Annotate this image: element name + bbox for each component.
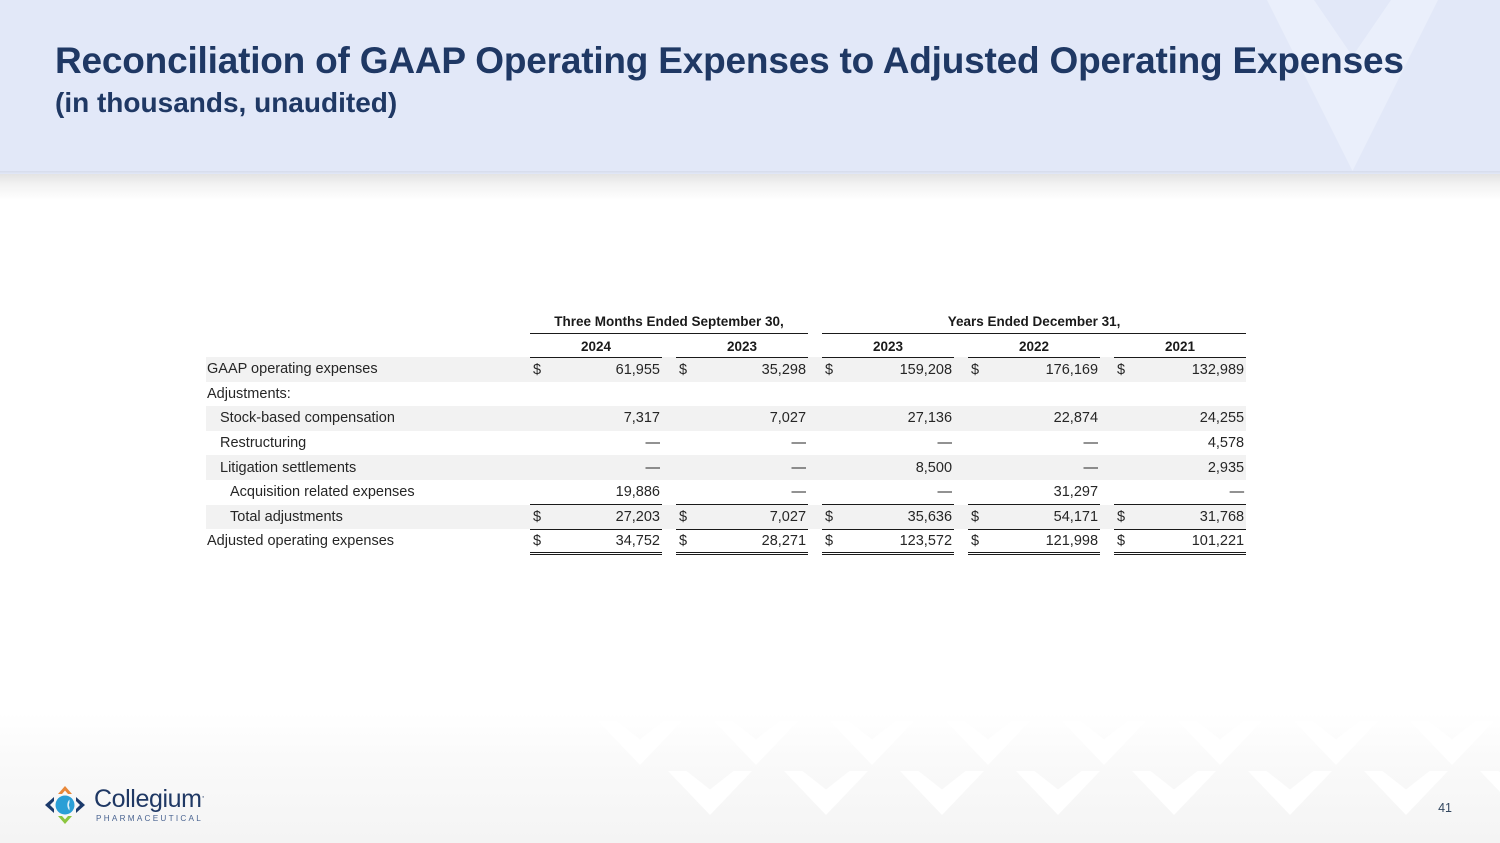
cell-gap xyxy=(1100,357,1114,382)
cell-currency-symbol xyxy=(968,480,994,505)
cell-value: — xyxy=(1140,480,1246,505)
cell-currency-symbol: $ xyxy=(1114,505,1140,530)
cell-gap xyxy=(1100,505,1114,530)
cell-gap xyxy=(808,455,822,480)
cell-currency-symbol: $ xyxy=(530,505,556,530)
cell-currency-symbol: $ xyxy=(822,505,848,530)
cell-currency-symbol xyxy=(530,431,556,456)
logo-text-block: Collegium. PHARMACEUTICAL xyxy=(94,787,204,823)
cell-gap xyxy=(954,382,968,407)
page-number: 41 xyxy=(1438,801,1452,815)
cell-gap xyxy=(1100,529,1114,554)
cell-value: 123,572 xyxy=(848,529,954,554)
table-row: Stock-based compensation7,3177,02727,136… xyxy=(206,406,1246,431)
cell-currency-symbol xyxy=(968,455,994,480)
year-header-gap xyxy=(662,333,676,357)
group-header-three-months: Three Months Ended September 30, xyxy=(530,311,808,333)
chevron-shape-icon xyxy=(590,721,706,773)
cell-currency-symbol: $ xyxy=(822,529,848,554)
cell-value: 34,752 xyxy=(556,529,662,554)
cell-currency-symbol: $ xyxy=(676,357,702,382)
cell-gap xyxy=(1100,480,1114,505)
cell-currency-symbol: $ xyxy=(968,529,994,554)
cell-value: 22,874 xyxy=(994,406,1100,431)
cell-value xyxy=(994,382,1100,407)
cell-gap xyxy=(954,505,968,530)
cell-value: 31,768 xyxy=(1140,505,1246,530)
company-logo: Collegium. PHARMACEUTICAL xyxy=(44,785,204,825)
cell-gap xyxy=(662,480,676,505)
row-label: GAAP operating expenses xyxy=(206,357,530,382)
chevron-shape-icon xyxy=(1286,721,1402,773)
year-header-row: 2024 2023 2023 2022 2021 xyxy=(206,333,1246,357)
logo-registered-mark: . xyxy=(202,789,205,801)
cell-currency-symbol: $ xyxy=(1114,357,1140,382)
table-row: Litigation settlements——8,500—2,935 xyxy=(206,455,1246,480)
cell-currency-symbol xyxy=(1114,431,1140,456)
cell-currency-symbol xyxy=(1114,406,1140,431)
cell-value: — xyxy=(702,480,808,505)
column-header-2024-q3: 2024 xyxy=(530,333,662,357)
chevron-shape-icon xyxy=(1008,771,1124,823)
year-header-gap xyxy=(1100,333,1114,357)
cell-gap xyxy=(808,505,822,530)
cell-gap xyxy=(662,382,676,407)
row-label: Acquisition related expenses xyxy=(206,480,530,505)
row-label: Total adjustments xyxy=(206,505,530,530)
cell-currency-symbol: $ xyxy=(1114,529,1140,554)
cell-currency-symbol xyxy=(530,480,556,505)
cell-value: 61,955 xyxy=(556,357,662,382)
cell-currency-symbol xyxy=(822,455,848,480)
cell-currency-symbol xyxy=(968,406,994,431)
cell-value: 27,203 xyxy=(556,505,662,530)
cell-gap xyxy=(662,505,676,530)
cell-value: 121,998 xyxy=(994,529,1100,554)
cell-value: — xyxy=(848,431,954,456)
title-block: Reconciliation of GAAP Operating Expense… xyxy=(55,40,1404,121)
cell-value xyxy=(1140,382,1246,407)
table-row: Acquisition related expenses19,886——31,2… xyxy=(206,480,1246,505)
page-subtitle: (in thousands, unaudited) xyxy=(55,85,1404,121)
cell-gap xyxy=(662,406,676,431)
cell-value: 27,136 xyxy=(848,406,954,431)
chevron-shape-icon xyxy=(822,721,938,773)
chevron-shape-icon xyxy=(1402,721,1500,773)
cell-value: 159,208 xyxy=(848,357,954,382)
row-label: Adjustments: xyxy=(206,382,530,407)
cell-currency-symbol: $ xyxy=(822,357,848,382)
cell-gap xyxy=(1100,382,1114,407)
row-label: Litigation settlements xyxy=(206,455,530,480)
cell-value: 7,027 xyxy=(702,505,808,530)
cell-currency-symbol xyxy=(822,382,848,407)
cell-gap xyxy=(808,357,822,382)
cell-value: 31,297 xyxy=(994,480,1100,505)
year-header-spacer xyxy=(206,333,530,357)
cell-currency-symbol xyxy=(530,382,556,407)
cell-currency-symbol xyxy=(1114,382,1140,407)
cell-value: — xyxy=(556,431,662,456)
cell-gap xyxy=(662,529,676,554)
cell-value: — xyxy=(994,431,1100,456)
cell-currency-symbol xyxy=(822,431,848,456)
cell-value: 176,169 xyxy=(994,357,1100,382)
cell-value: — xyxy=(848,480,954,505)
row-label: Stock-based compensation xyxy=(206,406,530,431)
logo-wordmark: Collegium. xyxy=(94,787,204,812)
chevron-shape-icon xyxy=(776,771,892,823)
table-row: Restructuring————4,578 xyxy=(206,431,1246,456)
cell-gap xyxy=(662,431,676,456)
header-band-shadow xyxy=(0,174,1500,200)
cell-value: — xyxy=(556,455,662,480)
chevron-shape-icon xyxy=(706,721,822,773)
cell-currency-symbol: $ xyxy=(530,529,556,554)
cell-gap xyxy=(1100,406,1114,431)
row-label: Adjusted operating expenses xyxy=(206,529,530,554)
cell-value: 24,255 xyxy=(1140,406,1246,431)
cell-gap xyxy=(808,406,822,431)
cell-currency-symbol xyxy=(968,431,994,456)
cell-gap xyxy=(808,529,822,554)
table-row: Adjustments: xyxy=(206,382,1246,407)
cell-currency-symbol: $ xyxy=(676,529,702,554)
cell-currency-symbol xyxy=(530,406,556,431)
cell-value xyxy=(702,382,808,407)
cell-gap xyxy=(662,357,676,382)
logo-tagline: PHARMACEUTICAL xyxy=(96,815,204,823)
chevron-shape-icon xyxy=(1170,721,1286,773)
reconciliation-table: Three Months Ended September 30, Years E… xyxy=(206,311,1246,555)
cell-value: 101,221 xyxy=(1140,529,1246,554)
cell-gap xyxy=(808,431,822,456)
financial-table-container: Three Months Ended September 30, Years E… xyxy=(206,311,1246,555)
table-head: Three Months Ended September 30, Years E… xyxy=(206,311,1246,357)
chevron-shape-icon xyxy=(660,771,776,823)
year-header-gap xyxy=(808,333,822,357)
collegium-logo-mark-icon xyxy=(44,785,86,825)
year-header-gap xyxy=(954,333,968,357)
chevron-watermark-pattern xyxy=(0,713,1500,843)
chevron-shape-icon xyxy=(1240,771,1356,823)
cell-currency-symbol xyxy=(1114,480,1140,505)
cell-value: 28,271 xyxy=(702,529,808,554)
column-header-2021-fy: 2021 xyxy=(1114,333,1246,357)
group-header-row: Three Months Ended September 30, Years E… xyxy=(206,311,1246,333)
chevron-shape-icon xyxy=(892,771,1008,823)
cell-gap xyxy=(954,480,968,505)
cell-value xyxy=(556,382,662,407)
page-title: Reconciliation of GAAP Operating Expense… xyxy=(55,40,1404,83)
cell-value: 132,989 xyxy=(1140,357,1246,382)
chevron-shape-icon xyxy=(1124,771,1240,823)
cell-value: 54,171 xyxy=(994,505,1100,530)
group-header-years: Years Ended December 31, xyxy=(822,311,1246,333)
chevron-shape-icon xyxy=(1054,721,1170,773)
cell-value: — xyxy=(702,431,808,456)
cell-value: 7,027 xyxy=(702,406,808,431)
chevron-shape-icon xyxy=(1472,771,1500,823)
cell-gap xyxy=(1100,455,1114,480)
table-row: Adjusted operating expenses$34,752$28,27… xyxy=(206,529,1246,554)
cell-value xyxy=(848,382,954,407)
cell-currency-symbol: $ xyxy=(676,505,702,530)
cell-currency-symbol: $ xyxy=(968,505,994,530)
cell-gap xyxy=(954,357,968,382)
table-row: Total adjustments$27,203$7,027$35,636$54… xyxy=(206,505,1246,530)
column-header-2023-q3: 2023 xyxy=(676,333,808,357)
group-header-gap xyxy=(808,311,822,333)
cell-currency-symbol xyxy=(676,480,702,505)
cell-gap xyxy=(954,455,968,480)
cell-value: 35,298 xyxy=(702,357,808,382)
cell-value: 19,886 xyxy=(556,480,662,505)
cell-value: 7,317 xyxy=(556,406,662,431)
cell-gap xyxy=(662,455,676,480)
chevron-row-2 xyxy=(660,771,1500,831)
group-header-spacer xyxy=(206,311,530,333)
cell-currency-symbol xyxy=(822,480,848,505)
cell-currency-symbol xyxy=(676,406,702,431)
cell-gap xyxy=(1100,431,1114,456)
cell-currency-symbol xyxy=(676,431,702,456)
cell-value: — xyxy=(994,455,1100,480)
cell-gap xyxy=(808,480,822,505)
column-header-2023-fy: 2023 xyxy=(822,333,954,357)
cell-value: 35,636 xyxy=(848,505,954,530)
cell-gap xyxy=(954,406,968,431)
cell-currency-symbol xyxy=(822,406,848,431)
cell-value: 8,500 xyxy=(848,455,954,480)
cell-gap xyxy=(954,529,968,554)
row-label: Restructuring xyxy=(206,431,530,456)
cell-gap xyxy=(808,382,822,407)
cell-currency-symbol xyxy=(1114,455,1140,480)
cell-currency-symbol xyxy=(676,382,702,407)
cell-gap xyxy=(954,431,968,456)
cell-value: 4,578 xyxy=(1140,431,1246,456)
chevron-shape-icon xyxy=(1356,771,1472,823)
table-body: GAAP operating expenses$61,955$35,298$15… xyxy=(206,357,1246,554)
chevron-shape-icon xyxy=(938,721,1054,773)
table-row: GAAP operating expenses$61,955$35,298$15… xyxy=(206,357,1246,382)
column-header-2022-fy: 2022 xyxy=(968,333,1100,357)
cell-currency-symbol xyxy=(530,455,556,480)
cell-currency-symbol: $ xyxy=(968,357,994,382)
slide: Reconciliation of GAAP Operating Expense… xyxy=(0,0,1500,843)
cell-value: — xyxy=(702,455,808,480)
cell-value: 2,935 xyxy=(1140,455,1246,480)
cell-currency-symbol xyxy=(968,382,994,407)
cell-currency-symbol: $ xyxy=(530,357,556,382)
cell-currency-symbol xyxy=(676,455,702,480)
